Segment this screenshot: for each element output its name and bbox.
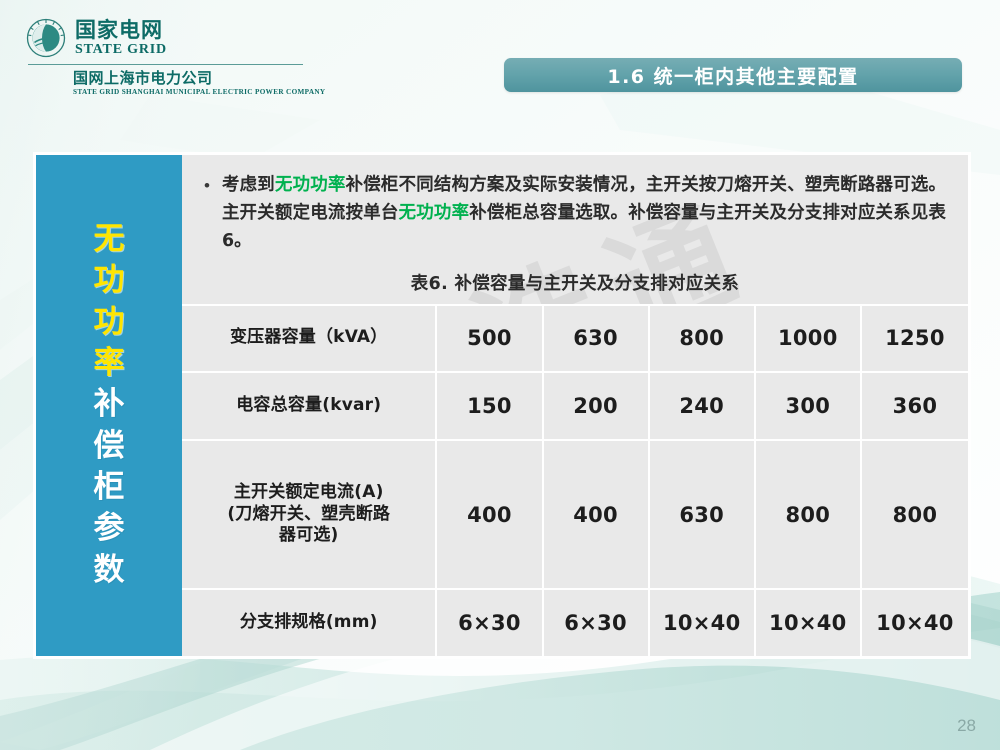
table-row: 电容总容量(kvar)150200240300360 — [182, 371, 968, 439]
table-row-label: 主开关额定电流(A)(刀熔开关、塑壳断路器可选) — [182, 439, 437, 589]
logo-company-name-en: STATE GRID — [75, 43, 167, 57]
table-cell: 400 — [544, 439, 650, 589]
content-area: 万选通 • 考虑到无功功率补偿柜不同结构方案及实际安装情况，主开关按刀熔开关、塑… — [182, 155, 968, 656]
section-title-text: 1.6 统一柜内其他主要配置 — [607, 62, 858, 89]
table-cell: 800 — [650, 304, 756, 372]
sidebar-char-8: 数 — [94, 550, 125, 590]
bullet-marker-icon: • — [204, 171, 210, 196]
sidebar-char-4: 补 — [94, 384, 125, 424]
table-row-label: 分支排规格(mm) — [182, 588, 437, 656]
table-cell: 400 — [437, 439, 543, 589]
bullet-paragraph-text: 考虑到无功功率补偿柜不同结构方案及实际安装情况，主开关按刀熔开关、塑壳断路器可选… — [222, 171, 946, 256]
logo-company-name-cn: 国家电网 — [75, 19, 167, 41]
table-cell: 10×40 — [650, 588, 756, 656]
table-cell: 6×30 — [437, 588, 543, 656]
slide-content-panel: 无功功率补偿柜参数 万选通 • 考虑到无功功率补偿柜不同结构方案及实际安装情况，… — [33, 152, 971, 659]
bullet-paragraph: • 考虑到无功功率补偿柜不同结构方案及实际安装情况，主开关按刀熔开关、塑壳断路器… — [198, 169, 952, 256]
table-cell: 300 — [756, 371, 862, 439]
table-cell: 630 — [544, 304, 650, 372]
section-title-bar: 1.6 统一柜内其他主要配置 — [504, 58, 962, 92]
sidebar-characters: 无功功率补偿柜参数 — [94, 219, 125, 590]
table-cell: 360 — [862, 371, 968, 439]
company-logo-block: 国家电网 STATE GRID 国网上海市电力公司 STATE GRID SHA… — [26, 18, 326, 96]
table-cell: 800 — [756, 439, 862, 589]
sidebar-char-2: 功 — [94, 302, 125, 342]
table-row: 变压器容量（kVA）50063080010001250 — [182, 304, 968, 372]
table-cell: 10×40 — [756, 588, 862, 656]
sidebar-char-5: 偿 — [94, 426, 125, 466]
table-cell: 1000 — [756, 304, 862, 372]
table-cell: 200 — [544, 371, 650, 439]
table-cell: 150 — [437, 371, 543, 439]
sidebar-char-7: 参 — [94, 508, 125, 548]
paragraph-highlight-3: 无功功率 — [399, 203, 470, 223]
table-row-label: 变压器容量（kVA） — [182, 304, 437, 372]
table-cell: 6×30 — [544, 588, 650, 656]
sidebar-char-0: 无 — [94, 219, 125, 259]
table-cell: 500 — [437, 304, 543, 372]
spec-table-body: 变压器容量（kVA）50063080010001250电容总容量(kvar)15… — [182, 304, 968, 656]
table-cell: 800 — [862, 439, 968, 589]
table-row: 主开关额定电流(A)(刀熔开关、塑壳断路器可选)400400630800800 — [182, 439, 968, 589]
sidebar-char-6: 柜 — [94, 467, 125, 507]
logo-subsidiary-name-cn: 国网上海市电力公司 — [73, 70, 326, 87]
paragraph-run-0: 考虑到 — [222, 175, 275, 195]
logo-subsidiary-name-en: STATE GRID SHANGHAI MUNICIPAL ELECTRIC P… — [73, 88, 326, 96]
sidebar-vertical-title: 无功功率补偿柜参数 — [36, 155, 182, 656]
table-cell: 1250 — [862, 304, 968, 372]
slide-header: 国家电网 STATE GRID 国网上海市电力公司 STATE GRID SHA… — [0, 0, 1000, 110]
logo-divider — [28, 64, 303, 65]
sidebar-char-3: 率 — [94, 343, 125, 383]
table-cell: 10×40 — [862, 588, 968, 656]
compensation-spec-table: 变压器容量（kVA）50063080010001250电容总容量(kvar)15… — [182, 304, 968, 656]
table-row-label: 电容总容量(kvar) — [182, 371, 437, 439]
page-number: 28 — [957, 716, 976, 736]
table-caption: 表6. 补偿容量与主开关及分支排对应关系 — [198, 270, 952, 295]
table-cell: 240 — [650, 371, 756, 439]
table-row: 分支排规格(mm)6×306×3010×4010×4010×40 — [182, 588, 968, 656]
table-cell: 630 — [650, 439, 756, 589]
sidebar-char-1: 功 — [94, 260, 125, 300]
paragraph-highlight-1: 无功功率 — [275, 175, 346, 195]
state-grid-globe-logo-icon — [26, 18, 66, 58]
